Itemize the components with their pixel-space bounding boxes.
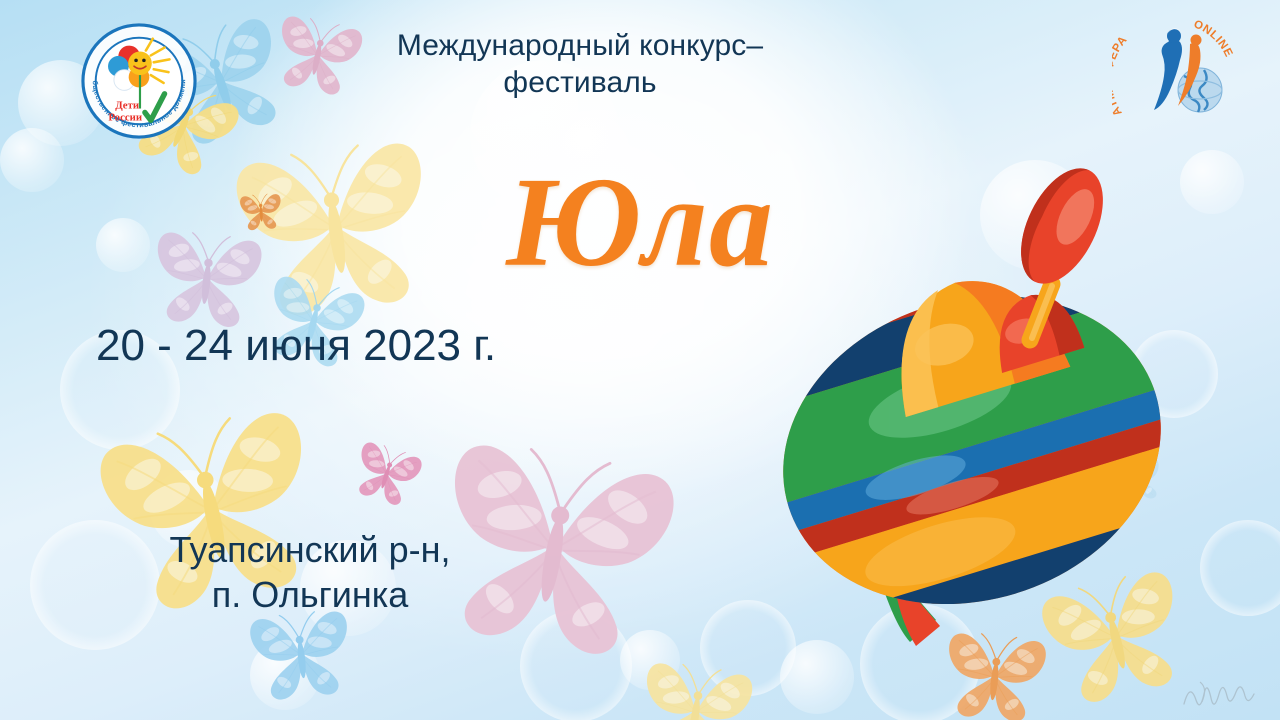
page-title: Международный конкурс– фестиваль bbox=[350, 28, 810, 101]
atmosfera-online-logo: АТМОСФЕРА ONLINE bbox=[1112, 14, 1242, 132]
svg-text:АТМОСФЕРА: АТМОСФЕРА bbox=[1112, 34, 1130, 118]
butterfly-bf-pink-small-right bbox=[343, 429, 431, 517]
event-location: Туапсинский р-н, п. Ольгинка bbox=[120, 528, 500, 617]
emblem-center-line2: России bbox=[108, 111, 142, 123]
artist-signature-watermark bbox=[1180, 674, 1266, 710]
bokeh-circle bbox=[0, 128, 64, 192]
event-dates: 20 - 24 июня 2023 г. bbox=[96, 322, 496, 370]
emblem-center-line1: Дети bbox=[115, 100, 139, 112]
bokeh-circle bbox=[620, 630, 680, 690]
deti-rossii-emblem: Общественное фестивальное движение bbox=[80, 22, 198, 140]
poster-canvas: Общественное фестивальное движение bbox=[0, 0, 1280, 720]
atmos-arc-text: АТМОСФЕРА bbox=[1112, 34, 1130, 118]
bokeh-circle bbox=[96, 218, 150, 272]
bokeh-circle bbox=[250, 640, 320, 710]
bokeh-circle bbox=[520, 610, 632, 720]
spinning-top-illustration bbox=[740, 150, 1220, 670]
butterfly-bf-orange-tiny bbox=[236, 186, 285, 235]
